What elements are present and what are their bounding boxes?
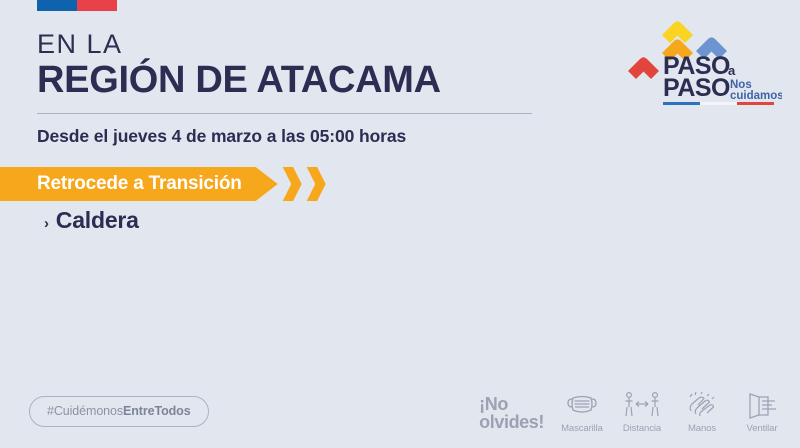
header-divider xyxy=(37,113,532,114)
comuna-list: › Caldera xyxy=(44,206,139,235)
reminder-label: Ventilar xyxy=(747,423,778,434)
poster-canvas: EN LA REGIÓN DE ATACAMA Desde el jueves … xyxy=(0,0,800,448)
header-block: EN LA REGIÓN DE ATACAMA Desde el jueves … xyxy=(37,30,557,147)
comuna-name: Caldera xyxy=(56,206,139,235)
reminders-heading: ¡No olvides! xyxy=(479,388,544,432)
kicker-text: EN LA xyxy=(37,30,557,58)
status-banner-body: Retrocede a Transición xyxy=(0,167,256,201)
flag-blue-block xyxy=(37,0,77,11)
page-title: REGIÓN DE ATACAMA xyxy=(37,59,557,102)
status-badge: Retrocede a Transición xyxy=(37,173,242,195)
reminder-manos: Manos xyxy=(674,388,730,434)
banner-arrow-tip xyxy=(256,167,278,201)
mask-icon xyxy=(565,388,599,421)
effective-date-text: Desde el jueves 4 de marzo a las 05:00 h… xyxy=(37,126,557,147)
hashtag-bold: EntreTodos xyxy=(123,404,191,418)
reminder-distancia: Distancia xyxy=(614,388,670,434)
chevron-red-icon xyxy=(628,57,659,79)
hashtag-prefix: #Cuidémonos xyxy=(47,404,123,418)
wash-hands-icon xyxy=(685,388,719,421)
chevron-right-icon: › xyxy=(44,215,49,234)
reminders-heading-line2: olvides! xyxy=(479,413,544,431)
paso-a-paso-logo: PASO a PASO Nos cuidamos xyxy=(622,8,782,108)
distance-icon xyxy=(622,388,662,421)
reminder-ventilar: Ventilar xyxy=(734,388,790,434)
reminder-label: Manos xyxy=(688,423,716,434)
list-item: › Caldera xyxy=(44,206,139,235)
reminder-mascarilla: Mascarilla xyxy=(554,388,610,434)
status-banner: Retrocede a Transición xyxy=(0,167,326,201)
reminders-strip: ¡No olvides! Mascarilla xyxy=(479,388,790,434)
reminders-heading-line1: ¡No xyxy=(479,395,544,413)
svg-text:cuidamos: cuidamos xyxy=(730,90,782,102)
ventilate-icon xyxy=(745,388,779,421)
chevron-left-icon xyxy=(307,167,326,201)
chevron-left-icon xyxy=(283,167,302,201)
flag-red-block xyxy=(77,0,117,11)
hashtag-badge: #Cuidémonos EntreTodos xyxy=(29,396,209,427)
reminder-label: Mascarilla xyxy=(561,423,603,434)
reminder-label: Distancia xyxy=(623,423,661,434)
chile-flag-bar xyxy=(37,0,117,11)
svg-text:PASO: PASO xyxy=(663,74,730,102)
